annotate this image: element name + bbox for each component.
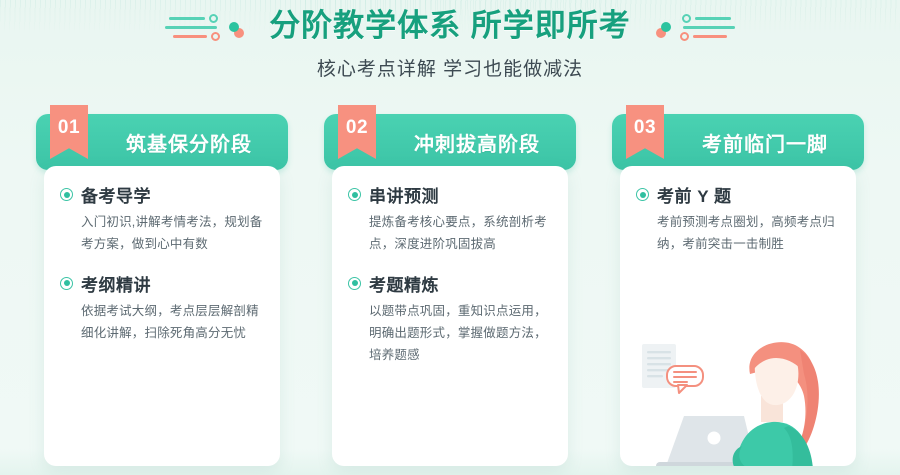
feature-description: 入门初识,讲解考情考法，规划备考方案，做到心中有数: [81, 212, 266, 256]
feature-head: 备考导学: [60, 182, 266, 207]
ribbon-badge-01: 01: [50, 105, 88, 159]
ribbon-badge-03: 03: [626, 105, 664, 159]
card-title-01: 筑基保分阶段: [98, 114, 280, 170]
stage-card-01[interactable]: 01 筑基保分阶段 备考导学 入门初识,讲解考情考法，规划备考方案，做到心中有数…: [36, 114, 288, 475]
feature-description: 提炼备考核心要点，系统剖析考点，深度进阶巩固拔高: [369, 212, 554, 256]
card-header-02: 02 冲刺拔高阶段: [324, 114, 576, 170]
feature-title: 考题精炼: [369, 271, 439, 296]
feature-item: 考纲精讲 依据考试大纲，考点层层解剖精细化讲解，扫除死角高分无忧: [60, 271, 266, 345]
feature-head: 考题精炼: [348, 271, 554, 296]
page-title: 分阶教学体系 所学即所考: [269, 0, 631, 52]
feature-description: 以题带点巩固，重知识点运用，明确出题形式，掌握做题方法，培养题感: [369, 301, 554, 367]
feature-title: 串讲预测: [369, 182, 439, 207]
bullet-dot-icon: [348, 277, 361, 290]
bullet-dot-icon: [60, 188, 73, 201]
card-body-02: 串讲预测 提炼备考核心要点，系统剖析考点，深度进阶巩固拔高 考题精炼 以题带点巩…: [332, 166, 568, 466]
card-title-03: 考前临门一脚: [674, 114, 856, 170]
ribbon-badge-02: 02: [338, 105, 376, 159]
title-row: 分阶教学体系 所学即所考: [0, 0, 900, 52]
feature-item: 考题精炼 以题带点巩固，重知识点运用，明确出题形式，掌握做题方法，培养题感: [348, 271, 554, 367]
bullet-dot-icon: [348, 188, 361, 201]
decorative-lines-left-icon: [163, 6, 255, 46]
feature-title: 考纲精讲: [81, 271, 151, 296]
stage-card-list: 01 筑基保分阶段 备考导学 入门初识,讲解考情考法，规划备考方案，做到心中有数…: [0, 114, 900, 475]
page-header: 分阶教学体系 所学即所考 核心考点详解 学习也能做减法: [0, 0, 900, 100]
feature-description: 考前预测考点圈划，高频考点归纳，考前突击一击制胜: [657, 212, 842, 256]
feature-description: 依据考试大纲，考点层层解剖精细化讲解，扫除死角高分无忧: [81, 301, 266, 345]
card-header-01: 01 筑基保分阶段: [36, 114, 288, 170]
card-number-01: 01: [58, 118, 80, 137]
card-header-03: 03 考前临门一脚: [612, 114, 864, 170]
card-number-03: 03: [634, 118, 656, 137]
bullet-dot-icon: [60, 277, 73, 290]
feature-head: 考纲精讲: [60, 271, 266, 296]
woman-at-laptop-illustration-icon: [620, 338, 856, 466]
card-title-02: 冲刺拔高阶段: [386, 114, 568, 170]
card-body-03: 考前 Y 题 考前预测考点圈划，高频考点归纳，考前突击一击制胜: [620, 166, 856, 466]
stage-card-02[interactable]: 02 冲刺拔高阶段 串讲预测 提炼备考核心要点，系统剖析考点，深度进阶巩固拔高 …: [324, 114, 576, 475]
feature-head: 考前 Y 题: [636, 182, 842, 207]
card-body-01: 备考导学 入门初识,讲解考情考法，规划备考方案，做到心中有数 考纲精讲 依据考试…: [44, 166, 280, 466]
stage-card-03[interactable]: 03 考前临门一脚 考前 Y 题 考前预测考点圈划，高频考点归纳，考前突击一击制…: [612, 114, 864, 475]
feature-item: 串讲预测 提炼备考核心要点，系统剖析考点，深度进阶巩固拔高: [348, 182, 554, 256]
bullet-dot-icon: [636, 188, 649, 201]
page-subtitle: 核心考点详解 学习也能做减法: [0, 54, 900, 81]
feature-title: 备考导学: [81, 182, 151, 207]
feature-head: 串讲预测: [348, 182, 554, 207]
feature-item: 备考导学 入门初识,讲解考情考法，规划备考方案，做到心中有数: [60, 182, 266, 256]
card-number-02: 02: [346, 118, 368, 137]
feature-title: 考前 Y 题: [657, 182, 731, 207]
decorative-lines-right-icon: [645, 6, 737, 46]
feature-item: 考前 Y 题 考前预测考点圈划，高频考点归纳，考前突击一击制胜: [636, 182, 842, 256]
